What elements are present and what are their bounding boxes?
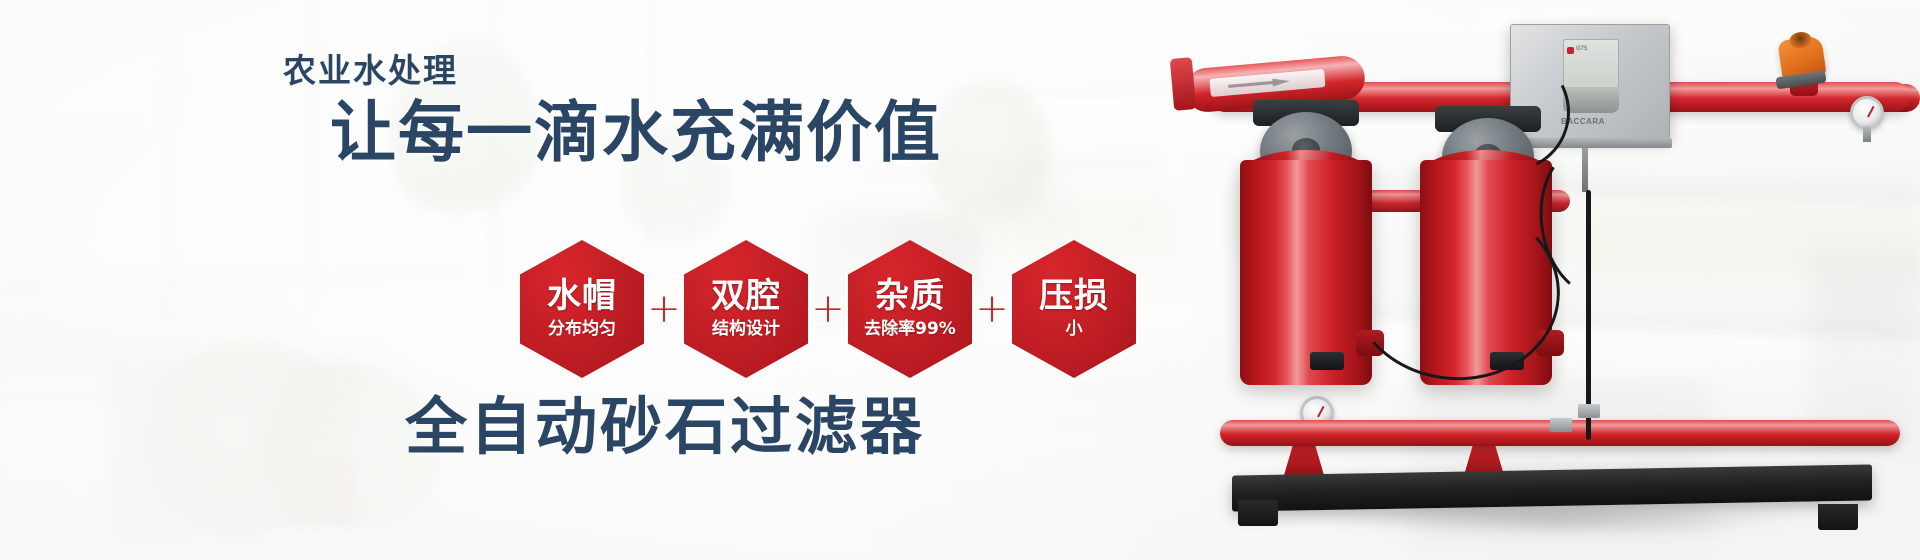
promo-banner: G75 BACCARA	[0, 0, 1920, 560]
sand-filter-product-image: G75 BACCARA	[1150, 0, 1920, 560]
controller-knob	[1563, 87, 1619, 113]
badge-subtitle: 分布均匀	[548, 320, 616, 339]
plus-separator-icon: +	[644, 289, 684, 329]
feature-badge-row: 水帽 分布均匀 + 双腔 结构设计 + 杂质 去除率99% + 压损 小	[520, 240, 1136, 378]
pressure-gauge-icon	[1850, 96, 1884, 130]
badge-title: 杂质	[875, 279, 945, 315]
controller-logo-mark	[1567, 47, 1574, 54]
feature-badge-impurity: 杂质 去除率99%	[848, 240, 972, 378]
base-foot	[1818, 504, 1858, 530]
kicker-text: 农业水处理	[283, 44, 458, 92]
feature-badge-water-cap: 水帽 分布均匀	[520, 240, 644, 378]
controller-model-label: G75	[1576, 46, 1587, 52]
pipe-clamp	[1310, 352, 1344, 370]
badge-subtitle: 结构设计	[712, 320, 780, 339]
badge-subtitle: 去除率99%	[864, 320, 956, 339]
gauge-neck	[1863, 126, 1871, 142]
plus-separator-icon: +	[972, 289, 1012, 329]
tubing-clip	[1550, 418, 1572, 432]
feature-badge-dual-chamber: 双腔 结构设计	[684, 240, 808, 378]
tubing-clip	[1578, 404, 1600, 418]
badge-title: 水帽	[547, 279, 617, 315]
base-foot	[1238, 500, 1278, 526]
plus-separator-icon: +	[808, 289, 848, 329]
badge-title: 压损	[1039, 279, 1109, 315]
control-tubing-vertical	[1586, 190, 1591, 440]
feature-badge-pressure-loss: 压损 小	[1012, 240, 1136, 378]
badge-title: 双腔	[711, 279, 781, 315]
product-name-text: 全自动砂石过滤器	[405, 396, 925, 458]
badge-subtitle: 小	[1066, 320, 1083, 339]
headline-text: 让每一滴水充满价值	[330, 100, 942, 166]
